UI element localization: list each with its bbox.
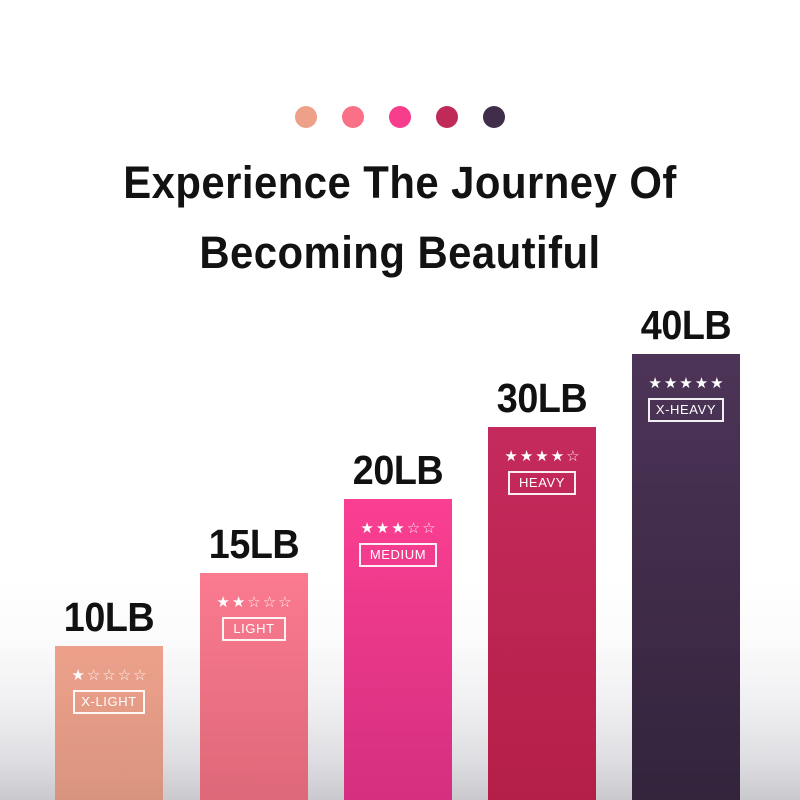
star-filled-icon: ★ [551,449,564,464]
bar-weight-label: 40LB [641,304,731,354]
star-filled-icon: ★ [535,449,548,464]
star-filled-icon: ★ [232,595,245,610]
bar-weight-label: 10LB [64,596,154,646]
bar-body: ★★★★★X-HEAVY [632,354,740,800]
star-rating: ★★★☆☆ [360,521,435,536]
bar-body: ★★★★☆HEAVY [488,427,596,800]
star-empty-icon: ☆ [278,595,291,610]
resistance-grade-badge: X-HEAVY [648,398,724,422]
bar-group-heavy[interactable]: 30LB★★★★☆HEAVY [488,427,596,800]
star-filled-icon: ★ [216,595,229,610]
bar-badge-block: ★★★☆☆MEDIUM [344,521,452,567]
star-filled-icon: ★ [664,376,677,391]
star-empty-icon: ☆ [118,668,131,683]
star-filled-icon: ★ [648,376,661,391]
star-empty-icon: ☆ [263,595,276,610]
bar-weight-label: 20LB [353,449,443,499]
bar-badge-block: ★★☆☆☆LIGHT [200,595,308,641]
bar-body: ★★☆☆☆LIGHT [200,573,308,800]
star-filled-icon: ★ [71,668,84,683]
bar-body: ★★★☆☆MEDIUM [344,499,452,800]
star-rating: ★★★★★ [648,376,723,391]
star-rating: ★☆☆☆☆ [71,668,146,683]
star-empty-icon: ☆ [133,668,146,683]
bar-weight-label: 30LB [497,377,587,427]
bar-body: ★☆☆☆☆X-LIGHT [55,646,163,800]
star-rating: ★★★★☆ [504,449,579,464]
star-filled-icon: ★ [360,521,373,536]
resistance-grade-badge: MEDIUM [359,543,437,567]
star-empty-icon: ☆ [87,668,100,683]
star-filled-icon: ★ [391,521,404,536]
star-filled-icon: ★ [710,376,723,391]
bar-group-x-light[interactable]: 10LB★☆☆☆☆X-LIGHT [55,646,163,800]
star-empty-icon: ☆ [247,595,260,610]
bar-group-x-heavy[interactable]: 40LB★★★★★X-HEAVY [632,354,740,800]
resistance-grade-badge: X-LIGHT [73,690,144,714]
resistance-grade-badge: LIGHT [222,617,285,641]
bar-group-light[interactable]: 15LB★★☆☆☆LIGHT [200,573,308,800]
bar-weight-label: 15LB [209,523,299,573]
star-empty-icon: ☆ [422,521,435,536]
star-empty-icon: ☆ [566,449,579,464]
bar-badge-block: ★★★★☆HEAVY [488,449,596,495]
star-filled-icon: ★ [504,449,517,464]
star-filled-icon: ★ [376,521,389,536]
star-filled-icon: ★ [520,449,533,464]
bar-badge-block: ★★★★★X-HEAVY [632,376,740,422]
star-filled-icon: ★ [679,376,692,391]
star-empty-icon: ☆ [407,521,420,536]
resistance-grade-badge: HEAVY [508,471,576,495]
bar-badge-block: ★☆☆☆☆X-LIGHT [55,668,163,714]
star-empty-icon: ☆ [102,668,115,683]
bar-group-medium[interactable]: 20LB★★★☆☆MEDIUM [344,499,452,800]
star-filled-icon: ★ [695,376,708,391]
star-rating: ★★☆☆☆ [216,595,291,610]
resistance-level-bar-chart: 10LB★☆☆☆☆X-LIGHT15LB★★☆☆☆LIGHT20LB★★★☆☆M… [0,0,800,800]
